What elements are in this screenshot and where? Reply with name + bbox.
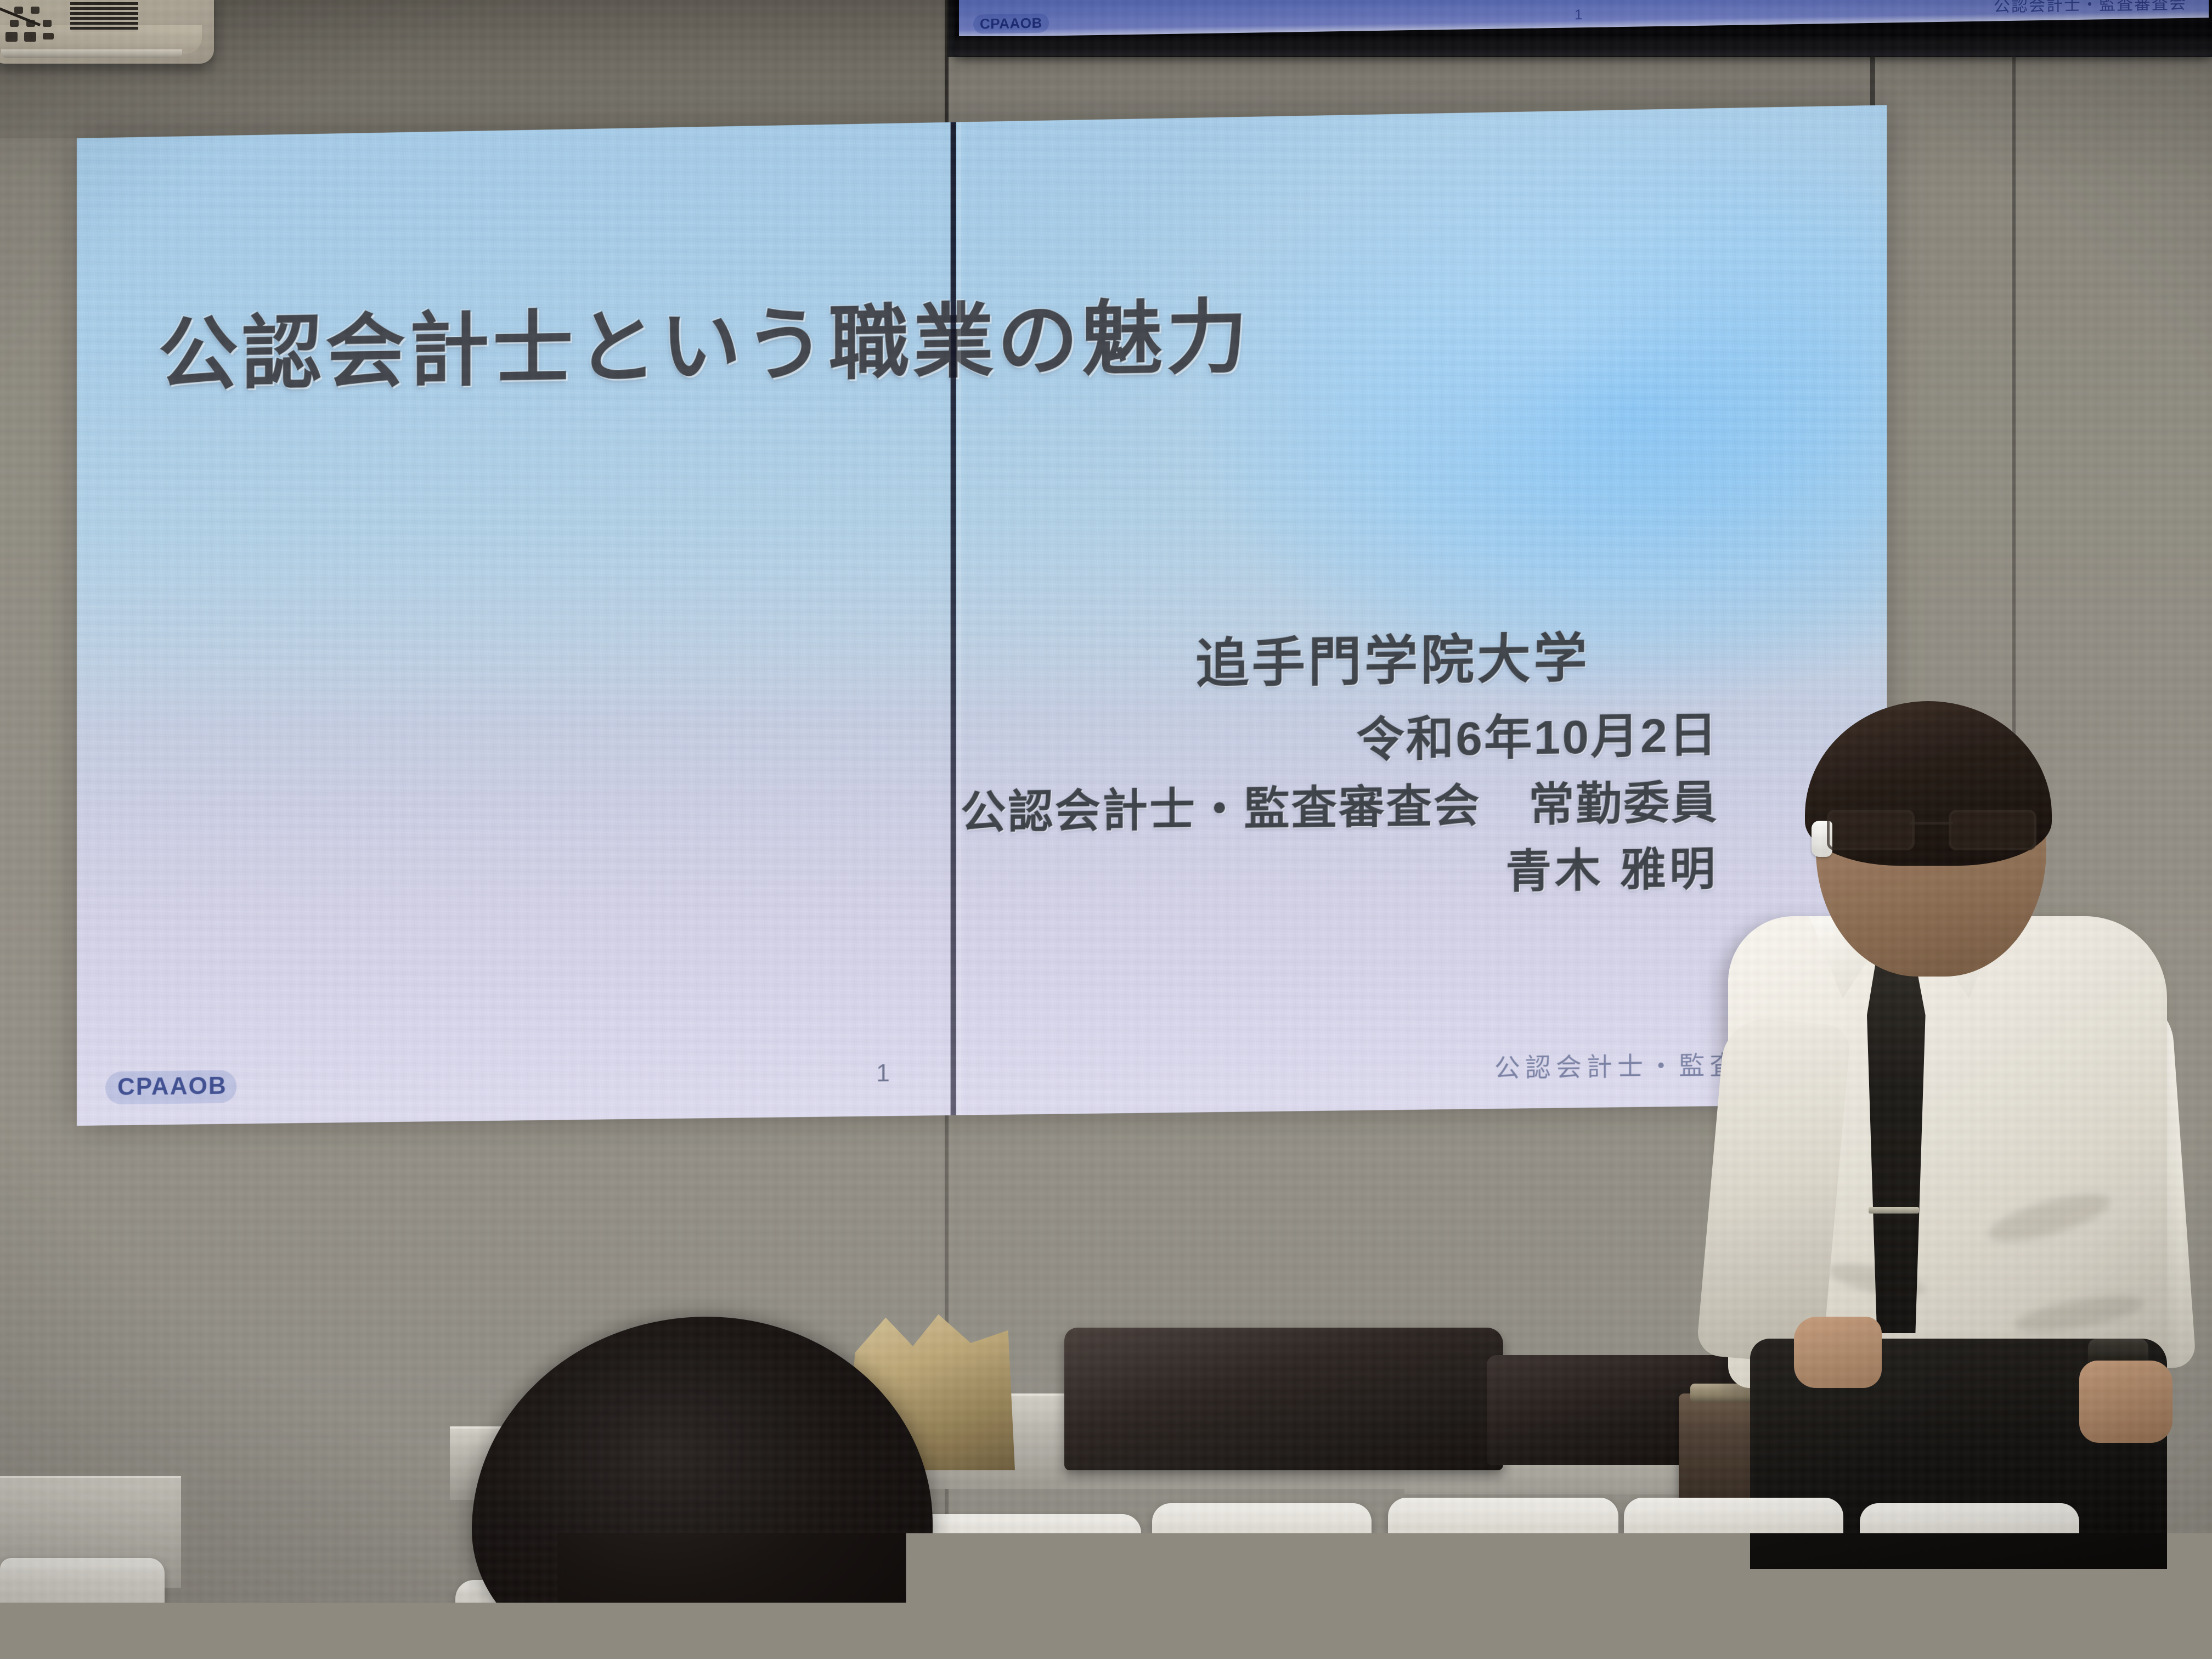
slide-university: 追手門学院大学	[1195, 614, 1590, 697]
projector-vent-icon	[70, 0, 138, 32]
slide-surface	[77, 105, 1887, 1126]
overhead-monitor: CPAAOB 1 公認会計士・監査審査会	[955, 0, 2212, 56]
monitor-logo: CPAAOB	[973, 13, 1049, 33]
projection-screen: 公認会計士という職業の魅力 追手門学院大学 令和6年10月2日 公認会計士・監査…	[77, 105, 1887, 1126]
eyeglasses-icon	[1825, 810, 2039, 846]
chair	[1388, 1498, 1618, 1659]
ceiling-projector	[0, 0, 214, 64]
monitor-page-number: 1	[1575, 6, 1582, 23]
chair	[0, 1558, 165, 1659]
monitor-screen: CPAAOB 1 公認会計士・監査審査会	[959, 0, 2209, 37]
presenter-right-hand	[2079, 1361, 2172, 1443]
shirt-fold	[1984, 1184, 2114, 1251]
dark-bag	[1064, 1328, 1503, 1470]
slide-organization: 公認会計士・監査審査会 常勤委員	[961, 765, 1719, 842]
slide-page-number: 1	[876, 1060, 890, 1088]
presenter-figure	[1695, 713, 2212, 1569]
slide-title: 公認会計士という職業の魅力	[158, 266, 1577, 407]
eyeglass-bridge	[1910, 822, 1953, 825]
cpaaob-logo: CPAAOB	[105, 1070, 237, 1104]
presenter-left-hand	[1794, 1317, 1882, 1388]
projector-button[interactable]	[43, 20, 52, 27]
lecture-hall-photo: CPAAOB 1 公認会計士・監査審査会 公認会計士という職業の魅力 追手門学院…	[0, 0, 2212, 1659]
monitor-footer: 公認会計士・監査審査会	[1994, 0, 2187, 16]
tie-clip	[1869, 1207, 1919, 1214]
projector-port	[43, 33, 54, 39]
chair	[1152, 1503, 1372, 1659]
monitor-bezel	[955, 36, 2212, 56]
slide-date: 令和6年10月2日	[1356, 696, 1718, 770]
eyeglass-lens	[1827, 810, 1915, 850]
projector-port	[24, 32, 36, 42]
chair	[911, 1514, 1141, 1659]
chair	[1624, 1498, 1843, 1659]
shirt-fold	[2012, 1289, 2146, 1339]
projector-port	[5, 32, 18, 42]
projector-button[interactable]	[10, 20, 19, 27]
slide-presenter-name: 青木 雅明	[1505, 832, 1718, 900]
eyeglass-lens	[1949, 810, 2036, 850]
projector-mount	[1, 49, 182, 58]
